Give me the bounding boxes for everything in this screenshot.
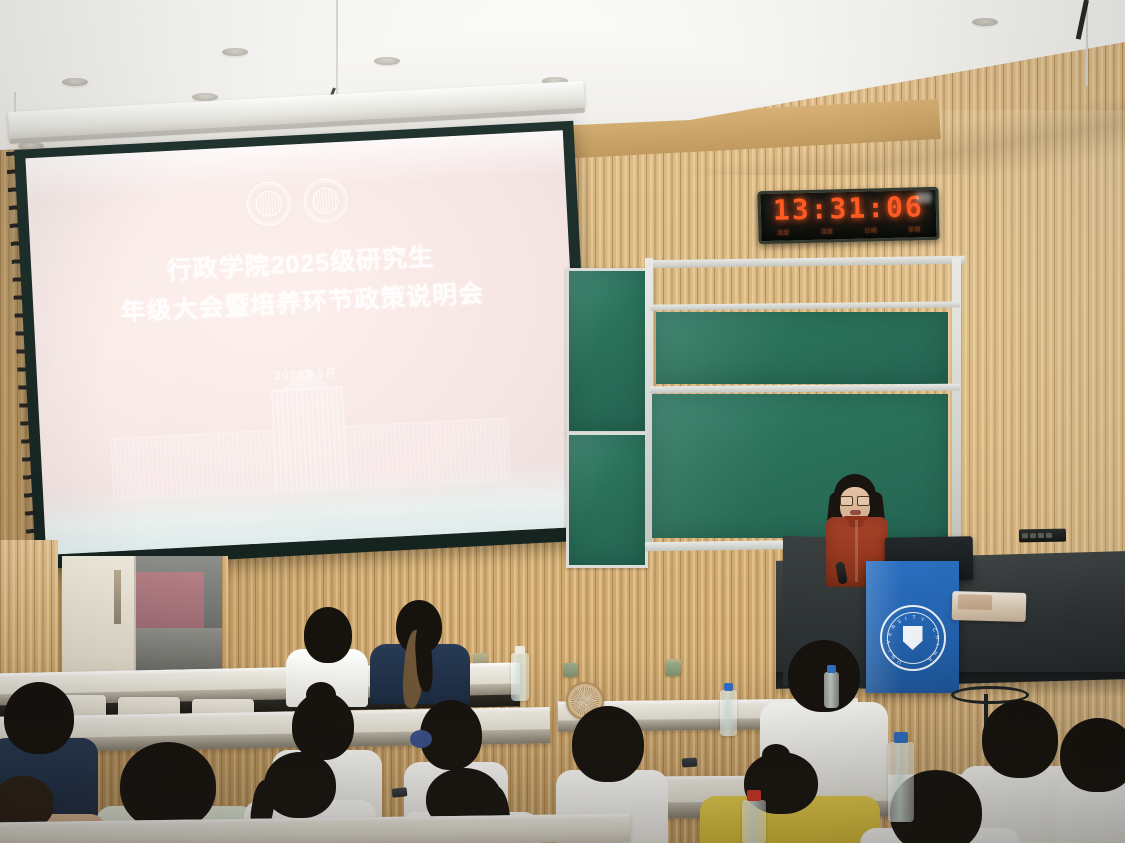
- draped-towel: [952, 591, 1027, 622]
- phone-on-desk: [392, 787, 408, 798]
- lecture-hall-photo: 行政学院2025级研究生 年级大会暨培养环节政策说明会 2025年9月 13:3…: [0, 0, 1125, 843]
- door-vision-slot: [114, 570, 121, 624]
- wall-control-panel[interactable]: [1019, 529, 1066, 543]
- clock-label-date: 日期: [864, 225, 877, 234]
- slide-surface: 行政学院2025级研究生 年级大会暨培养环节政策说明会 2025年9月: [25, 130, 583, 555]
- hair-scrunchie: [410, 730, 432, 748]
- water-bottle: [720, 690, 737, 736]
- speaker-shirt-placket: [855, 520, 858, 582]
- glasses-icon: [840, 496, 870, 504]
- audience-person: [860, 770, 1020, 843]
- clock-label-humidity: 湿度: [821, 226, 834, 235]
- glasses-lens-left: [840, 496, 853, 506]
- hair-bun: [762, 744, 790, 766]
- person-head: [4, 682, 74, 754]
- projection-screen: 行政学院2025级研究生 年级大会暨培养环节政策说明会 2025年9月: [14, 121, 595, 570]
- wall-socket: [563, 663, 578, 677]
- bottle-cap: [515, 646, 525, 654]
- downlight-icon: [62, 78, 88, 86]
- water-bottle: [742, 800, 766, 843]
- chalkboard-frame-left-lower: [566, 432, 648, 568]
- phone-on-desk: [682, 757, 698, 767]
- door-leaf[interactable]: [62, 556, 136, 678]
- wall-column-left: [0, 540, 58, 690]
- person-head: [572, 706, 644, 782]
- person-head: [982, 700, 1058, 778]
- ceiling-hang-rod: [336, 0, 338, 96]
- round-stool: [951, 686, 1023, 698]
- downlight-icon: [374, 57, 400, 65]
- person-head: [264, 752, 336, 818]
- door-opening: [62, 556, 228, 678]
- downlight-icon: [222, 48, 248, 56]
- chalkboard-main-upper: [656, 312, 948, 384]
- emblem-seal-text: UNIVERSITY CHINA: [888, 613, 938, 663]
- chalkboard-left-bottom: [569, 435, 645, 565]
- wall-socket: [665, 662, 680, 676]
- water-bottle: [511, 653, 529, 701]
- chalkboard-left-top: [569, 271, 645, 431]
- chalkboard-frame-left: [566, 268, 648, 434]
- bottle-cap: [724, 683, 734, 691]
- hair-bun: [306, 682, 336, 708]
- bottle-cap: [894, 732, 909, 743]
- panel-switch-3[interactable]: [1038, 533, 1044, 538]
- university-emblem-icon: UNIVERSITY CHINA: [880, 605, 946, 671]
- corridor-wall: [134, 572, 204, 630]
- bottle-cap: [747, 790, 760, 801]
- person-head: [304, 607, 352, 663]
- clock-label-weekday: 星期: [908, 224, 921, 233]
- screen-frame: 行政学院2025级研究生 年级大会暨培养环节政策说明会 2025年9月: [14, 121, 595, 570]
- panel-switch-1[interactable]: [1022, 533, 1028, 538]
- glasses-lens-right: [857, 496, 870, 506]
- panel-switch-4[interactable]: [1046, 533, 1052, 538]
- panel-switch-2[interactable]: [1030, 533, 1036, 538]
- clock-time: 13:31:06: [760, 191, 936, 225]
- chalkboard-main-lower: [652, 394, 948, 538]
- downlight-icon: [972, 18, 998, 26]
- audience-person: [700, 752, 880, 843]
- emblem-inner-ring: UNIVERSITY CHINA: [887, 612, 939, 664]
- person-head: [1060, 718, 1125, 792]
- screen-glare: [25, 130, 421, 529]
- person-head: [120, 742, 216, 830]
- water-bottle: [824, 672, 839, 708]
- water-bottle: [888, 742, 914, 822]
- clock-label-temp: 温度: [777, 227, 790, 236]
- digital-wall-clock: 13:31:06 温度 湿度 日期 星期: [757, 187, 939, 244]
- speaker-mouth: [850, 510, 861, 515]
- clock-glare: [915, 192, 931, 203]
- audience-person: [370, 600, 470, 700]
- door-side-panel: [222, 556, 228, 678]
- bottle-cap: [827, 665, 835, 673]
- audience-person: [1056, 718, 1125, 843]
